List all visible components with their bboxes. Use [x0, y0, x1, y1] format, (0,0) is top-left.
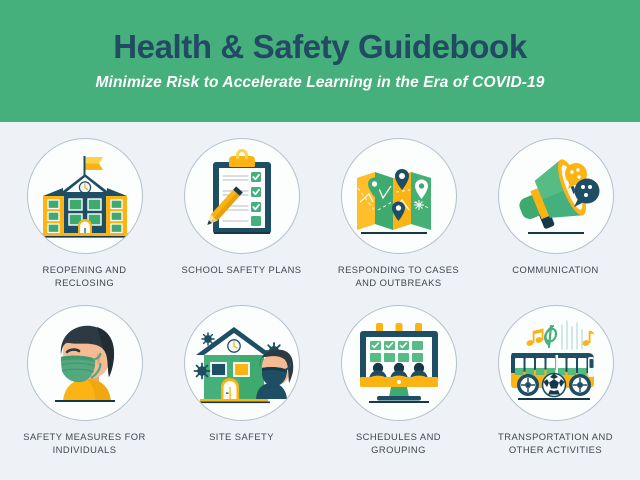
topic-item-communication[interactable]: Communication [477, 138, 634, 305]
topic-grid: Reopening and Reclosing [0, 122, 640, 480]
icon-circle [184, 138, 300, 254]
topic-item-reopening-and-reclosing[interactable]: Reopening and Reclosing [6, 138, 163, 305]
topic-label: Communication [512, 263, 598, 276]
treble-clef-icon [545, 326, 556, 347]
topic-item-responding-to-cases-and-outbreaks[interactable]: Responding to Cases and Outbreaks [320, 138, 477, 305]
icon-circle [498, 138, 614, 254]
megaphone-icon [504, 144, 608, 248]
icon-circle [27, 138, 143, 254]
folded-map-pins-icon [347, 144, 451, 248]
topic-label: Site Safety [209, 430, 274, 443]
topic-label: Reopening and Reclosing [17, 263, 152, 290]
bus-wheel-left [517, 374, 539, 396]
music-note-yellow-left [525, 329, 543, 347]
topic-item-school-safety-plans[interactable]: School Safety Plans [163, 138, 320, 305]
masked-person-icon [33, 311, 137, 415]
icon-circle [184, 305, 300, 421]
speech-bubble-navy [574, 179, 600, 208]
school-bus-music-icon [504, 311, 608, 415]
school-building-icon [33, 144, 137, 248]
music-note-yellow-right [581, 331, 594, 347]
topic-label: Schedules and Grouping [331, 430, 466, 457]
icon-circle [341, 138, 457, 254]
soccer-ball-icon [542, 374, 565, 397]
topic-label: Transportation and Other Activities [488, 430, 623, 457]
school-house-virus-icon [190, 311, 294, 415]
page-header: Health & Safety Guidebook Minimize Risk … [0, 0, 640, 122]
icon-circle [27, 305, 143, 421]
icon-circle [498, 305, 614, 421]
bus-wheel-right [569, 374, 591, 396]
topic-item-site-safety[interactable]: Site Safety [163, 305, 320, 472]
topic-item-schedules-and-grouping[interactable]: Schedules and Grouping [320, 305, 477, 472]
topic-item-transportation-and-other-activities[interactable]: Transportation and Other Activities [477, 305, 634, 472]
monitor-calendar-group-icon [347, 311, 451, 415]
page-title: Health & Safety Guidebook [113, 30, 527, 65]
icon-circle [341, 305, 457, 421]
page-subtitle: Minimize Risk to Accelerate Learning in … [96, 74, 545, 92]
topic-label: School Safety Plans [181, 263, 301, 276]
topic-label: Responding to Cases and Outbreaks [331, 263, 466, 290]
topic-label: Safety Measures for Individuals [17, 430, 152, 457]
clipboard-checklist-icon [190, 144, 294, 248]
topic-item-safety-measures-for-individuals[interactable]: Safety Measures for Individuals [6, 305, 163, 472]
infographic-page: Health & Safety Guidebook Minimize Risk … [0, 0, 640, 480]
